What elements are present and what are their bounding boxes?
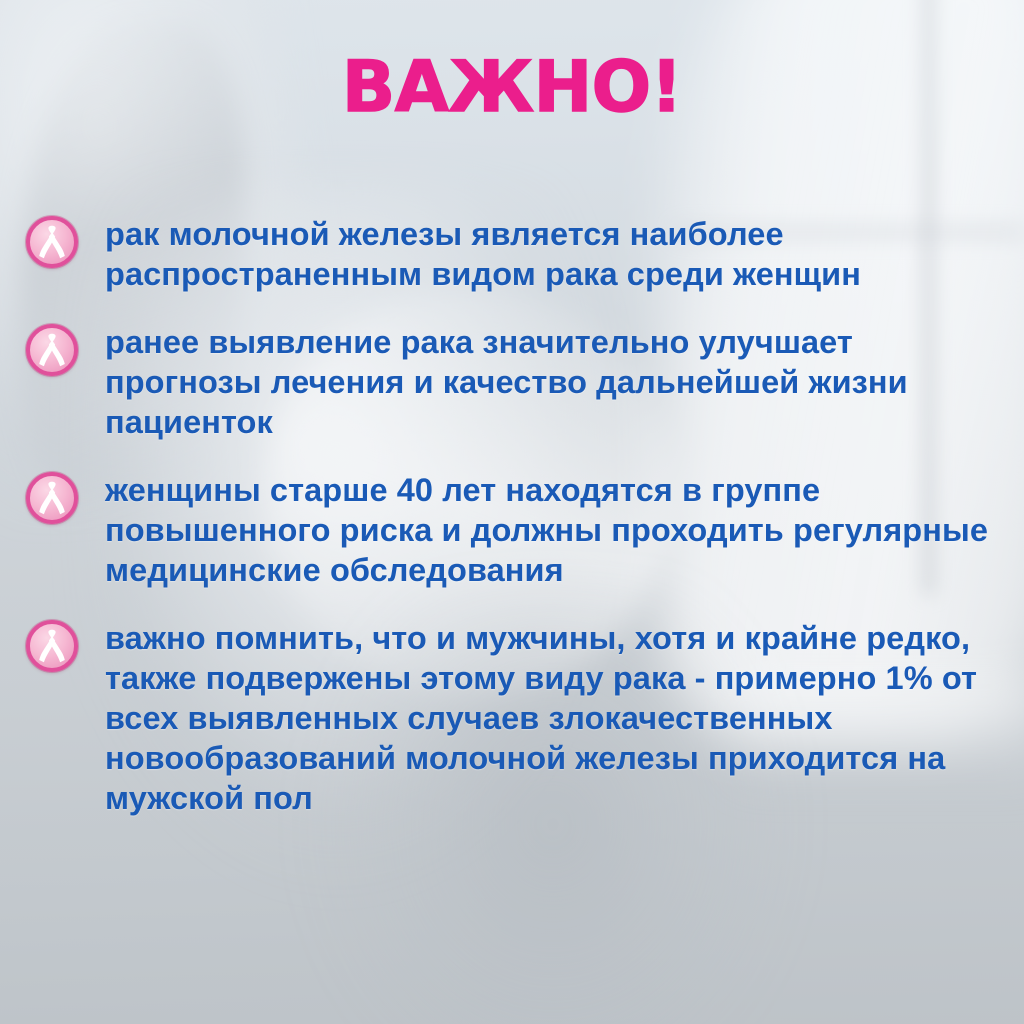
pink-ribbon-icon [26, 324, 78, 376]
page-title: ВАЖНО! [0, 52, 1024, 122]
fact-text: важно помнить, что и мужчины, хотя и кра… [105, 618, 1001, 818]
fact-list: рак молочной железы является наиболее ра… [26, 214, 1001, 846]
list-item: ранее выявление рака значительно улучшае… [26, 322, 1001, 442]
fact-text: ранее выявление рака значительно улучшае… [105, 322, 1001, 442]
pink-ribbon-icon [26, 472, 78, 524]
list-item: важно помнить, что и мужчины, хотя и кра… [26, 618, 1001, 818]
list-item: рак молочной железы является наиболее ра… [26, 214, 1001, 294]
poster-content: ВАЖНО! рак молочной железы является наиб… [0, 0, 1024, 1024]
pink-ribbon-icon [26, 216, 78, 268]
awareness-poster: ВАЖНО! рак молочной железы является наиб… [0, 0, 1024, 1024]
list-item: женщины старше 40 лет находятся в группе… [26, 470, 1001, 590]
fact-text: рак молочной железы является наиболее ра… [105, 214, 1001, 294]
fact-text: женщины старше 40 лет находятся в группе… [105, 470, 1001, 590]
pink-ribbon-icon [26, 620, 78, 672]
